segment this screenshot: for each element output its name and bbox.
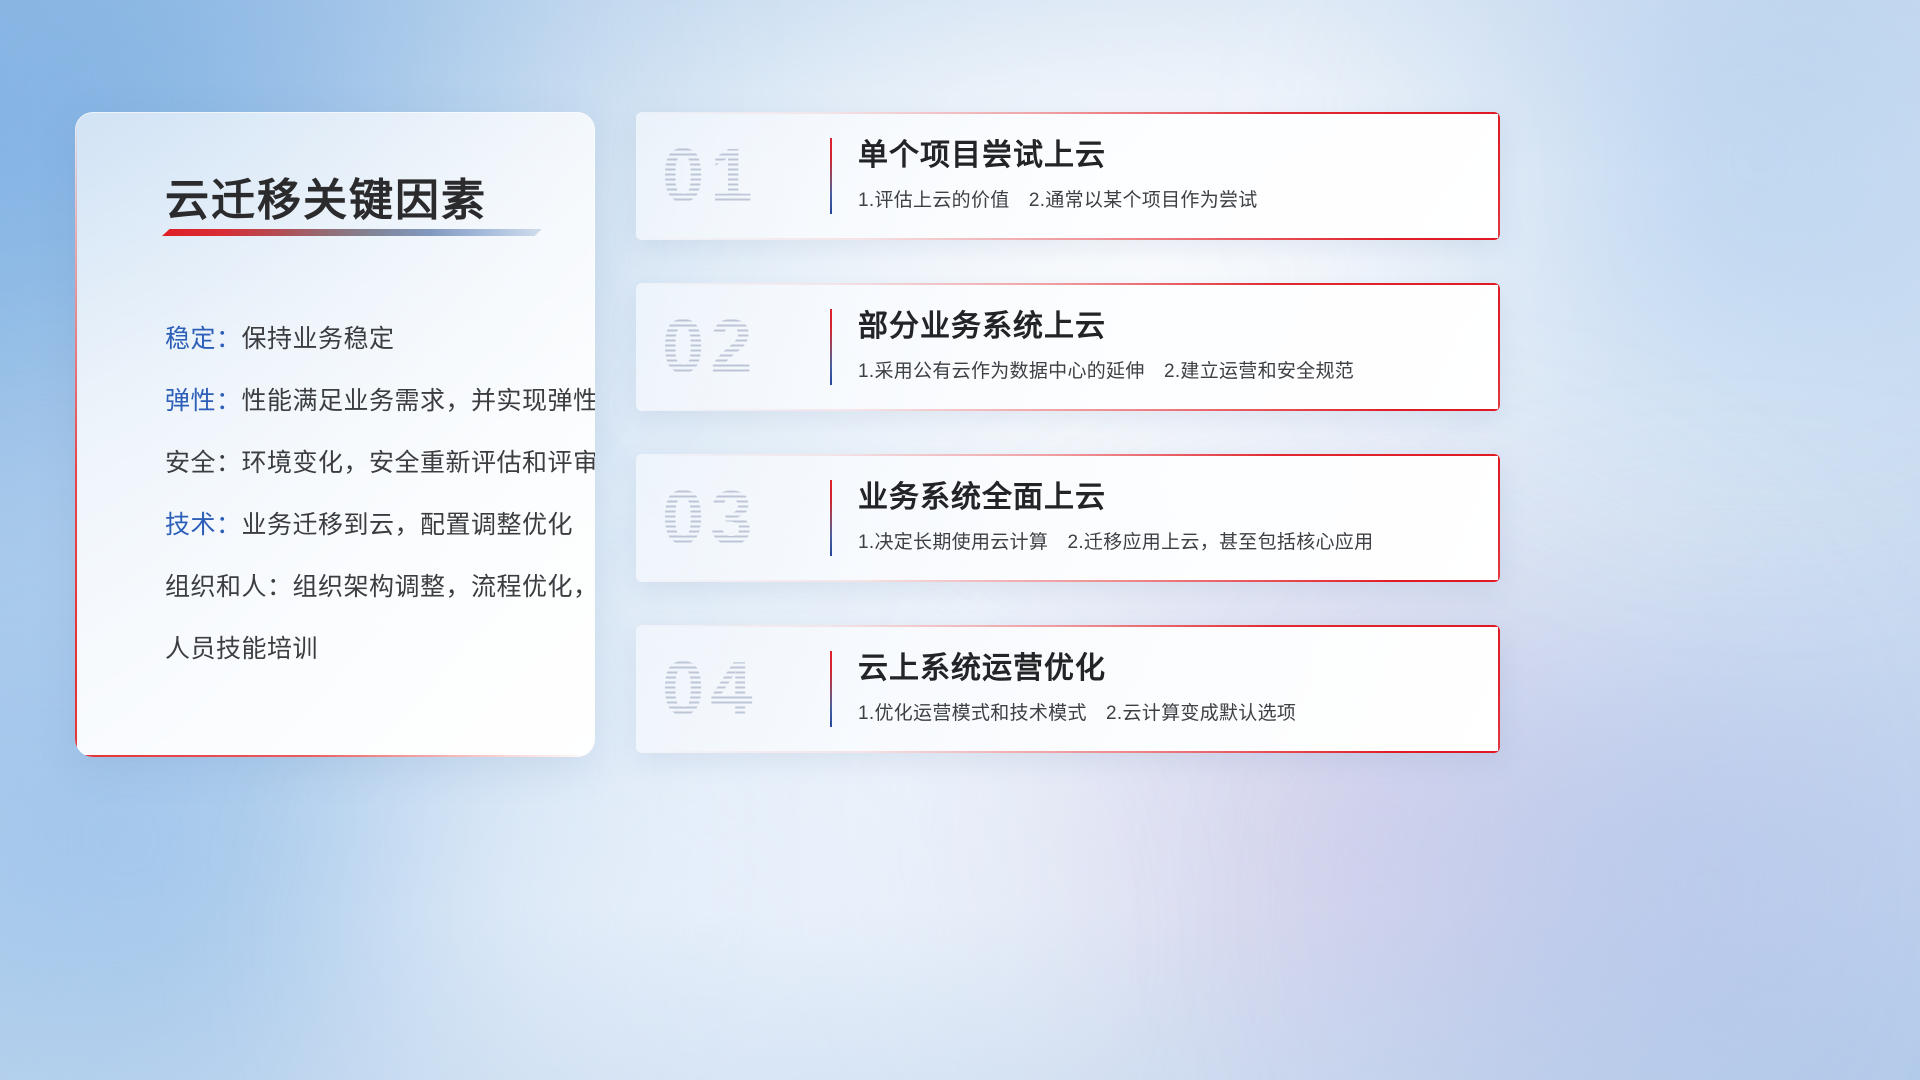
card-bottom-accent <box>636 751 1500 753</box>
list-item-label: 安全： <box>165 449 242 477</box>
card-divider-rule <box>830 309 832 385</box>
card-description: 1.采用公有云作为数据中心的延伸 2.建立运营和安全规范 <box>858 359 1470 385</box>
list-item-label: 弹性： <box>165 387 242 415</box>
card-divider-rule <box>830 138 832 214</box>
card-top-accent <box>636 625 1500 627</box>
key-factors-panel: 云迁移关键因素 稳定：保持业务稳定 弹性：性能满足业务需求，并实现弹性 安全：环… <box>75 112 595 757</box>
list-item-value: 环境变化，安全重新评估和评审 <box>242 449 595 477</box>
card-title: 业务系统全面上云 <box>858 478 1470 518</box>
key-factors-list: 稳定：保持业务稳定 弹性：性能满足业务需求，并实现弹性 安全：环境变化，安全重新… <box>165 308 571 680</box>
card-number-text: 02 <box>662 305 759 390</box>
card-top-accent <box>636 112 1500 114</box>
card-body: 部分业务系统上云 1.采用公有云作为数据中心的延伸 2.建立运营和安全规范 <box>858 307 1470 385</box>
card-body: 云上系统运营优化 1.优化运营模式和技术模式 2.云计算变成默认选项 <box>858 649 1470 727</box>
list-item-label: 组织和人： <box>165 573 293 601</box>
card-right-accent <box>1498 454 1500 582</box>
list-item-value: 组织架构调整，流程优化， <box>293 573 595 601</box>
card-body: 单个项目尝试上云 1.评估上云的价值 2.通常以某个项目作为尝试 <box>858 136 1470 214</box>
stage-card[interactable]: 01 单个项目尝试上云 1.评估上云的价值 2.通常以某个项目作为尝试 <box>636 112 1500 240</box>
card-divider-rule <box>830 651 832 727</box>
card-right-accent <box>1498 625 1500 753</box>
list-item: 技术：业务迁移到云，配置调整优化 <box>165 494 571 556</box>
card-title: 单个项目尝试上云 <box>858 136 1470 176</box>
list-item: 组织和人：组织架构调整，流程优化， <box>165 556 571 618</box>
list-item-continuation: 人员技能培训 <box>165 618 571 680</box>
card-number-text: 01 <box>662 134 759 219</box>
card-description: 1.优化运营模式和技术模式 2.云计算变成默认选项 <box>858 701 1470 727</box>
stage-card[interactable]: 04 云上系统运营优化 1.优化运营模式和技术模式 2.云计算变成默认选项 <box>636 625 1500 753</box>
stage-card[interactable]: 03 业务系统全面上云 1.决定长期使用云计算 2.迁移应用上云，甚至包括核心应… <box>636 454 1500 582</box>
card-description: 1.评估上云的价值 2.通常以某个项目作为尝试 <box>858 188 1470 214</box>
list-item-value: 业务迁移到云，配置调整优化 <box>242 511 574 539</box>
list-item-label: 技术： <box>165 511 242 539</box>
card-top-accent <box>636 454 1500 456</box>
card-top-accent <box>636 283 1500 285</box>
card-right-accent <box>1498 112 1500 240</box>
card-title: 云上系统运营优化 <box>858 649 1470 689</box>
migration-stage-cards: 01 单个项目尝试上云 1.评估上云的价值 2.通常以某个项目作为尝试 02 部… <box>636 112 1500 796</box>
card-bottom-accent <box>636 238 1500 240</box>
list-item-value: 保持业务稳定 <box>242 325 395 353</box>
list-item: 弹性：性能满足业务需求，并实现弹性 <box>165 370 571 432</box>
card-bottom-accent <box>636 409 1500 411</box>
list-item: 稳定：保持业务稳定 <box>165 308 571 370</box>
card-number-watermark: 01 <box>662 133 759 220</box>
card-bottom-accent <box>636 580 1500 582</box>
list-item-value: 性能满足业务需求，并实现弹性 <box>242 387 595 415</box>
card-right-accent <box>1498 283 1500 411</box>
card-number-watermark: 03 <box>662 475 759 562</box>
card-number-text: 03 <box>662 476 759 561</box>
card-divider-rule <box>830 480 832 556</box>
card-title: 部分业务系统上云 <box>858 307 1470 347</box>
page-title: 云迁移关键因素 <box>165 164 487 228</box>
card-description: 1.决定长期使用云计算 2.迁移应用上云，甚至包括核心应用 <box>858 530 1470 556</box>
card-body: 业务系统全面上云 1.决定长期使用云计算 2.迁移应用上云，甚至包括核心应用 <box>858 478 1470 556</box>
card-number-watermark: 04 <box>662 646 759 733</box>
list-item: 安全：环境变化，安全重新评估和评审 <box>165 432 571 494</box>
card-number-text: 04 <box>662 647 759 732</box>
card-number-watermark: 02 <box>662 304 759 391</box>
list-item-label: 稳定： <box>165 325 242 353</box>
stage-card[interactable]: 02 部分业务系统上云 1.采用公有云作为数据中心的延伸 2.建立运营和安全规范 <box>636 283 1500 411</box>
title-underline-rule <box>162 229 542 236</box>
